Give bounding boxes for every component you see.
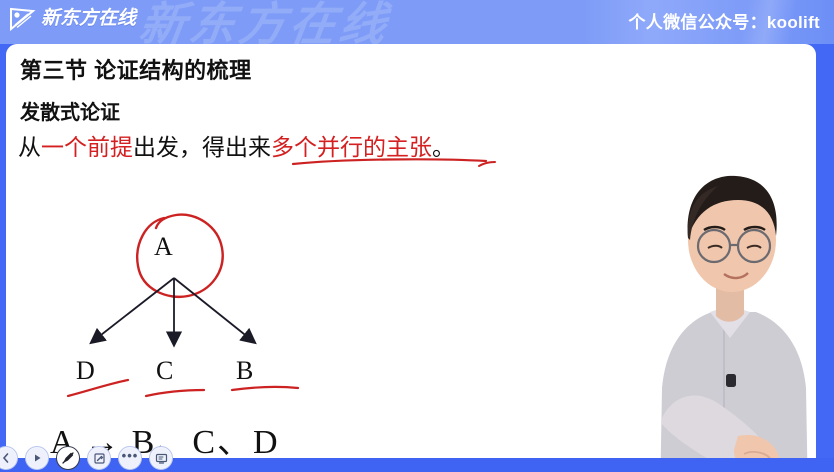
pen-icon	[61, 451, 75, 465]
pen-tool-button[interactable]	[56, 446, 80, 470]
course-player: 新东方在线 新东方在线 个人微信公众号：koolift 第三节 论证结构的梳理 …	[0, 0, 834, 472]
chevron-left-icon	[0, 452, 12, 464]
highlighter-tool-button[interactable]	[87, 446, 111, 470]
body-segment-1: 从	[18, 134, 41, 160]
presenter-figure	[626, 88, 816, 458]
screen-share-button[interactable]	[149, 446, 173, 470]
player-toolbar[interactable]: •••	[0, 446, 173, 470]
more-options-button[interactable]: •••	[118, 446, 142, 470]
slide-canvas: 第三节 论证结构的梳理 发散式论证 从一个前提出发，得出来多个并行的主张。	[6, 44, 816, 458]
brand-logo-label: 新东方在线	[41, 6, 136, 32]
annotation-underline-claims	[292, 157, 488, 167]
body-segment-3: 出发，得出来	[133, 134, 271, 160]
play-button[interactable]	[25, 446, 49, 470]
diagram-node-d: D	[76, 356, 95, 386]
highlighter-icon	[93, 452, 106, 465]
diagram-node-a: A	[154, 232, 173, 262]
body-highlight-premise: 一个前提	[41, 134, 133, 160]
pennant-logo-icon	[8, 6, 36, 32]
annotation-tick-mark	[476, 156, 498, 170]
diagram-node-c: C	[156, 356, 173, 386]
play-icon	[31, 452, 43, 464]
slide-subtitle: 发散式论证	[20, 96, 120, 125]
wechat-account-label: 个人微信公众号：koolift	[629, 8, 821, 33]
screen-icon	[155, 452, 168, 465]
previous-button[interactable]	[0, 446, 18, 470]
diagram-node-b: B	[236, 356, 253, 386]
presenter-video[interactable]	[626, 88, 816, 458]
argument-diagram: A D C B	[46, 204, 346, 404]
ellipsis-icon: •••	[122, 451, 139, 466]
slide-title: 第三节 论证结构的梳理	[20, 53, 252, 85]
header-watermark: 新东方在线	[135, 0, 394, 44]
brand-logo[interactable]: 新东方在线	[8, 6, 136, 32]
app-header: 新东方在线 新东方在线 个人微信公众号：koolift	[0, 0, 834, 44]
